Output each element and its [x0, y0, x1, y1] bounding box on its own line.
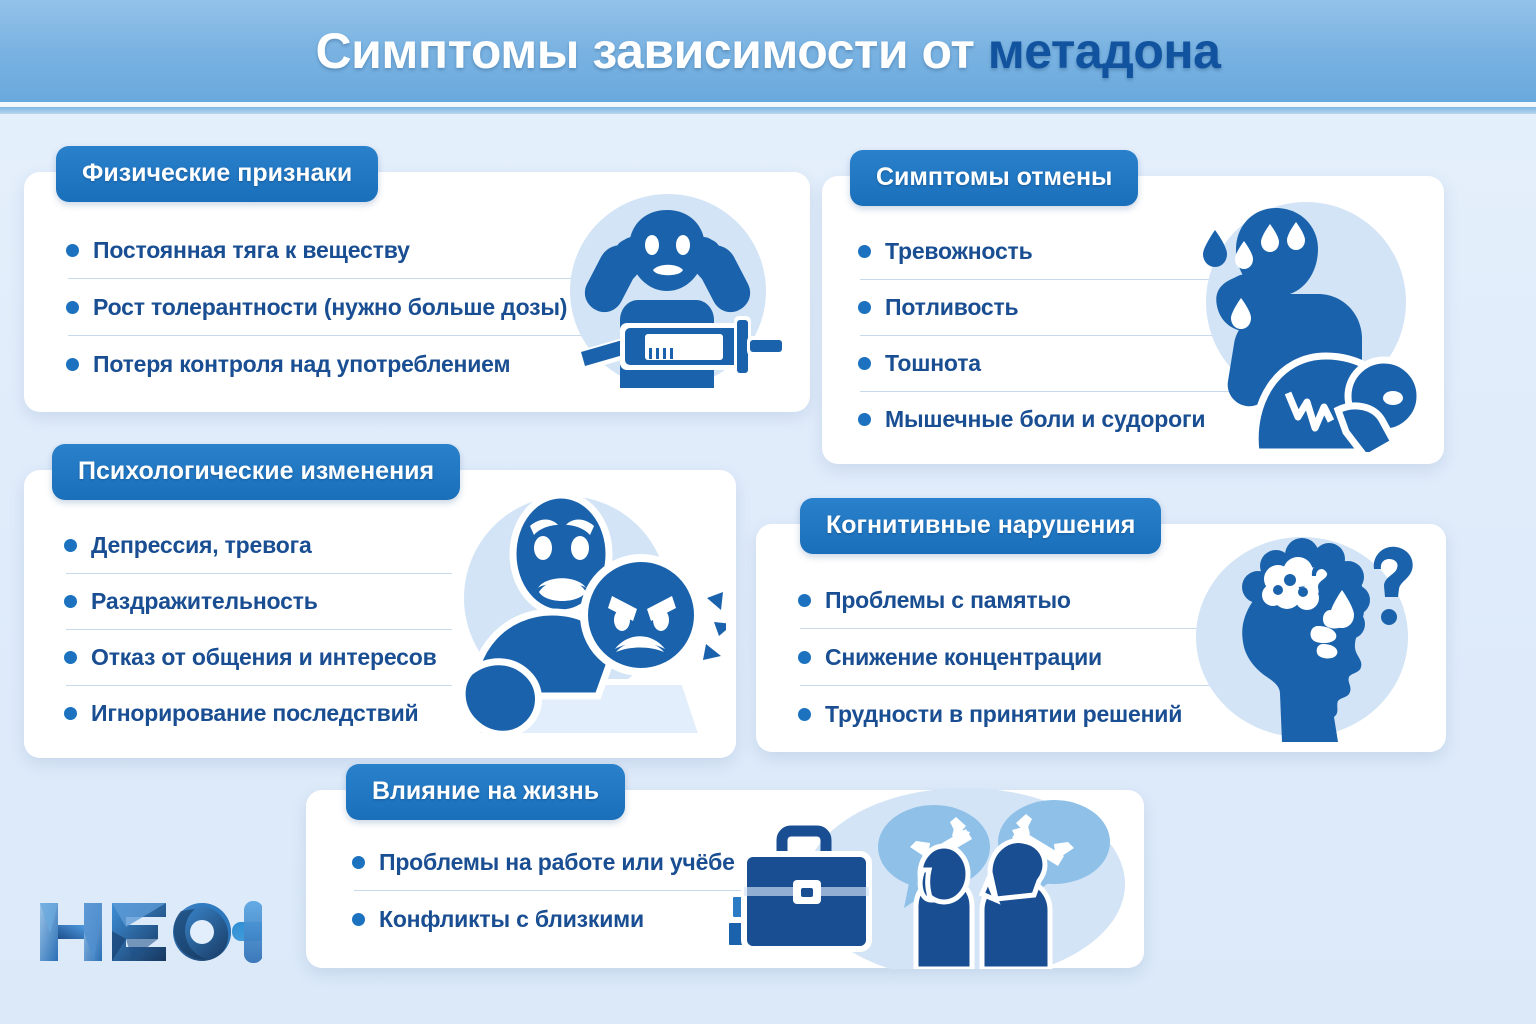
list-item-label: Конфликты с близкими — [379, 906, 644, 933]
bullet-dot-icon — [66, 358, 79, 371]
list-item: Трудности в принятии решений — [796, 686, 1231, 742]
bullet-dot-icon — [858, 245, 871, 258]
page-header: Симптомы зависимости от метадона — [0, 0, 1536, 102]
bullet-list-cognitive: Проблемы с памятыо Снижение концентрации… — [796, 572, 1231, 742]
bullet-dot-icon — [64, 707, 77, 720]
list-item-label: Игнорирование последствий — [91, 700, 418, 727]
list-item: Постоянная тяга к веществу — [64, 222, 584, 278]
list-item: Тошнота — [856, 336, 1256, 391]
bullet-list-psych: Депрессия, тревога Раздражительность Отк… — [62, 518, 452, 741]
list-item-label: Постоянная тяга к веществу — [93, 237, 410, 264]
card-life-impact: Влияние на жизнь Проблемы на работе или … — [306, 790, 1144, 968]
list-item: Отказ от общения и интересов — [62, 630, 452, 685]
page-title-accent: метадона — [988, 23, 1221, 79]
bullet-dot-icon — [66, 244, 79, 257]
infographic-page: Симптомы зависимости от метадона Физичес… — [0, 0, 1536, 1024]
page-title-part1: Симптомы зависимости — [316, 23, 922, 79]
list-item-label: Отказ от общения и интересов — [91, 644, 437, 671]
bullet-dot-icon — [352, 913, 365, 926]
header-accent-band — [0, 107, 1536, 114]
list-item-label: Проблемы с памятыо — [825, 587, 1071, 614]
list-item: Потливость — [856, 280, 1256, 335]
bullet-dot-icon — [858, 301, 871, 314]
page-title: Симптомы зависимости от метадона — [316, 22, 1221, 80]
card-title-cognitive-impairment: Когнитивные нарушения — [800, 498, 1161, 554]
card-physical-signs: Физические признаки Постоянная тяга к ве… — [24, 172, 810, 412]
list-item-label: Депрессия, тревога — [91, 532, 312, 559]
bullet-dot-icon — [64, 595, 77, 608]
list-item: Мышечные боли и судороги — [856, 392, 1256, 447]
list-item-label: Рост толерантности (нужно больше дозы) — [93, 294, 567, 321]
bullet-dot-icon — [858, 357, 871, 370]
bullet-dot-icon — [64, 539, 77, 552]
card-cognitive-impairment: Когнитивные нарушения Проблемы с памятыо… — [756, 524, 1446, 752]
bullet-dot-icon — [64, 651, 77, 664]
list-item-label: Мышечные боли и судороги — [885, 406, 1205, 433]
list-item-label: Трудности в принятии решений — [825, 701, 1182, 728]
bullet-dot-icon — [352, 856, 365, 869]
list-item: Тревожность — [856, 224, 1256, 279]
list-item-label: Потеря контроля над употреблением — [93, 351, 510, 378]
card-title-physical-signs: Физические признаки — [56, 146, 378, 202]
list-item: Игнорирование последствий — [62, 686, 452, 741]
list-item: Конфликты с близкими — [350, 891, 750, 947]
list-item: Рост толерантности (нужно больше дозы) — [64, 279, 584, 335]
bullet-list-withdrawal: Тревожность Потливость Тошнота Мышечные … — [856, 224, 1256, 447]
list-item-label: Раздражительность — [91, 588, 318, 615]
card-psychological-changes: Психологические изменения Депрессия, тре… — [24, 470, 736, 758]
list-item-label: Проблемы на работе или учёбе — [379, 849, 735, 876]
bullet-dot-icon — [66, 301, 79, 314]
list-item-label: Тревожность — [885, 238, 1033, 265]
list-item: Депрессия, тревога — [62, 518, 452, 573]
bullet-list-life: Проблемы на работе или учёбе Конфликты с… — [350, 834, 750, 947]
list-item: Проблемы с памятыо — [796, 572, 1231, 628]
briefcase-books-conflict-people-icon — [720, 784, 1140, 969]
list-item-label: Снижение концентрации — [825, 644, 1102, 671]
bullet-dot-icon — [798, 594, 811, 607]
page-title-part2: от — [922, 23, 988, 79]
list-item-label: Тошнота — [885, 350, 981, 377]
card-title-withdrawal-symptoms: Симптомы отмены — [850, 150, 1138, 206]
list-item: Снижение концентрации — [796, 629, 1231, 685]
list-item: Проблемы на работе или учёбе — [350, 834, 750, 890]
bullet-dot-icon — [798, 708, 811, 721]
logo-letter-n — [40, 903, 102, 961]
logo-plus-icon — [232, 901, 262, 963]
list-item: Потеря контроля над употреблением — [64, 336, 584, 392]
sad-person-with-angry-face-icon — [426, 486, 726, 736]
logo-letter-e — [112, 903, 166, 961]
card-withdrawal-symptoms: Симптомы отмены Тревожность Потливость Т… — [822, 176, 1444, 464]
bullet-list-physical: Постоянная тяга к веществу Рост толерант… — [64, 222, 584, 392]
logo-letter-o — [173, 903, 231, 961]
list-item: Раздражительность — [62, 574, 452, 629]
bullet-dot-icon — [798, 651, 811, 664]
bullet-dot-icon — [858, 413, 871, 426]
logo-neo-plus — [36, 893, 262, 971]
card-title-life-impact: Влияние на жизнь — [346, 764, 625, 820]
stressed-person-with-syringe-icon — [548, 188, 788, 393]
list-item-label: Потливость — [885, 294, 1019, 321]
card-title-psychological-changes: Психологические изменения — [52, 444, 460, 500]
